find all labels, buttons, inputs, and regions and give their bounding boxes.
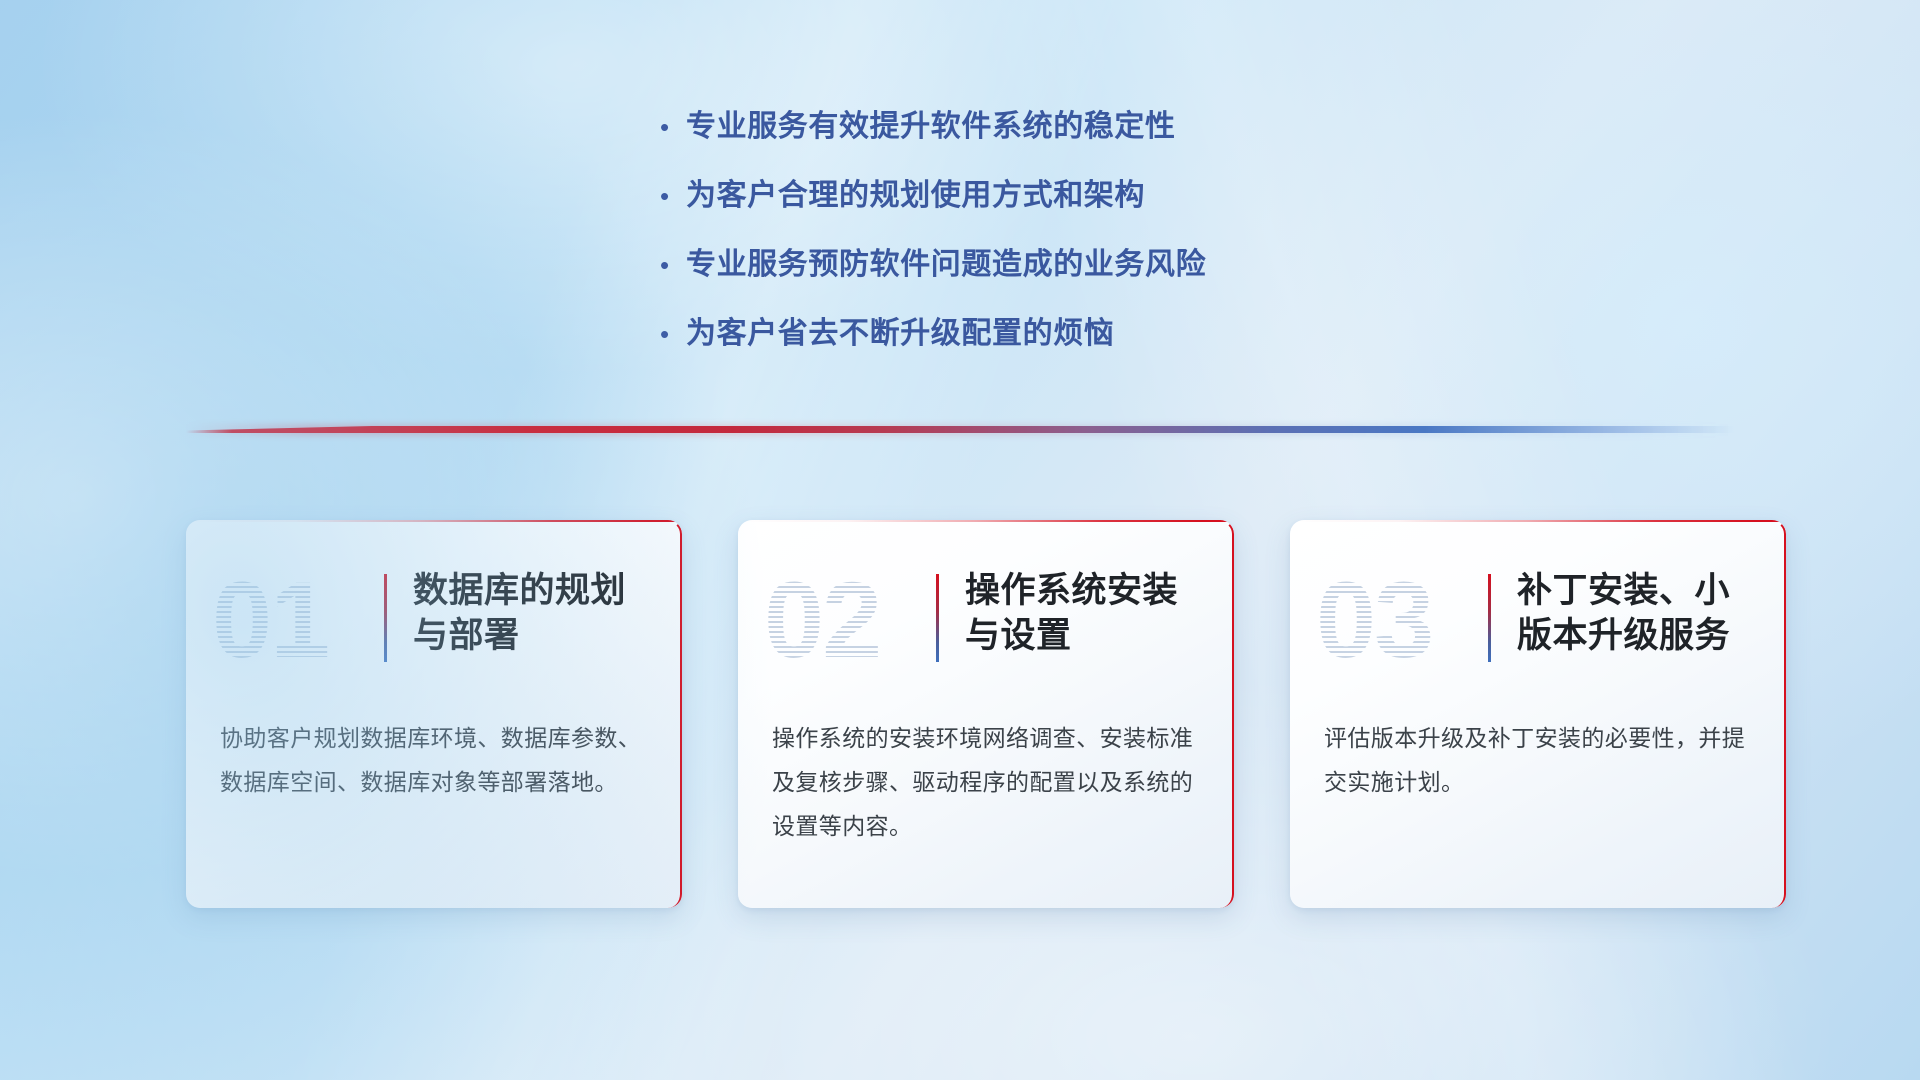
card-divider-rule xyxy=(384,574,387,662)
bullet-item-label: 专业服务预防软件问题造成的业务风险 xyxy=(686,246,1206,284)
bullet-item-label: 为客户省去不断升级配置的烦恼 xyxy=(686,315,1114,353)
bullet-item: • 为客户省去不断升级配置的烦恼 xyxy=(660,315,1560,353)
card-divider-rule xyxy=(936,574,939,662)
bullet-item-label: 专业服务有效提升软件系统的稳定性 xyxy=(686,108,1176,146)
benefits-bullet-list: • 专业服务有效提升软件系统的稳定性 • 为客户合理的规划使用方式和架构 • 专… xyxy=(660,108,1560,384)
card-number-watermark: 01 xyxy=(212,566,328,674)
service-card[interactable]: 02 操作系统安装与设置 操作系统的安装环境网络调查、安装标准及复核步骤、驱动程… xyxy=(738,520,1234,908)
card-title: 数据库的规划与部署 xyxy=(413,568,660,658)
slide-canvas: • 专业服务有效提升软件系统的稳定性 • 为客户合理的规划使用方式和架构 • 专… xyxy=(0,0,1920,1080)
divider-line xyxy=(186,426,1734,433)
bullet-item: • 为客户合理的规划使用方式和架构 xyxy=(660,177,1560,215)
card-divider-rule xyxy=(1488,574,1491,662)
divider-glow xyxy=(186,424,1734,436)
card-header: 操作系统安装与设置 xyxy=(936,568,1212,662)
service-card[interactable]: 01 数据库的规划与部署 协助客户规划数据库环境、数据库参数、数据库空间、数据库… xyxy=(186,520,682,908)
section-divider xyxy=(186,424,1734,440)
bullet-marker-icon: • xyxy=(660,177,686,215)
card-description: 操作系统的安装环境网络调查、安装标准及复核步骤、驱动程序的配置以及系统的设置等内… xyxy=(772,716,1206,848)
card-number-watermark: 02 xyxy=(764,566,880,674)
bullet-item-label: 为客户合理的规划使用方式和架构 xyxy=(686,177,1145,215)
card-description: 协助客户规划数据库环境、数据库参数、数据库空间、数据库对象等部署落地。 xyxy=(220,716,654,804)
card-header: 数据库的规划与部署 xyxy=(384,568,660,662)
service-card[interactable]: 03 补丁安装、小版本升级服务 评估版本升级及补丁安装的必要性，并提交实施计划。 xyxy=(1290,520,1786,908)
card-description: 评估版本升级及补丁安装的必要性，并提交实施计划。 xyxy=(1324,716,1758,804)
bullet-marker-icon: • xyxy=(660,315,686,353)
card-title: 操作系统安装与设置 xyxy=(965,568,1212,658)
bullet-marker-icon: • xyxy=(660,246,686,284)
service-card-group: 01 数据库的规划与部署 协助客户规划数据库环境、数据库参数、数据库空间、数据库… xyxy=(186,520,1786,908)
card-header: 补丁安装、小版本升级服务 xyxy=(1488,568,1764,662)
bullet-item: • 专业服务预防软件问题造成的业务风险 xyxy=(660,246,1560,284)
bullet-item: • 专业服务有效提升软件系统的稳定性 xyxy=(660,108,1560,146)
bullet-marker-icon: • xyxy=(660,108,686,146)
card-number-watermark: 03 xyxy=(1316,566,1432,674)
card-title: 补丁安装、小版本升级服务 xyxy=(1517,568,1764,658)
